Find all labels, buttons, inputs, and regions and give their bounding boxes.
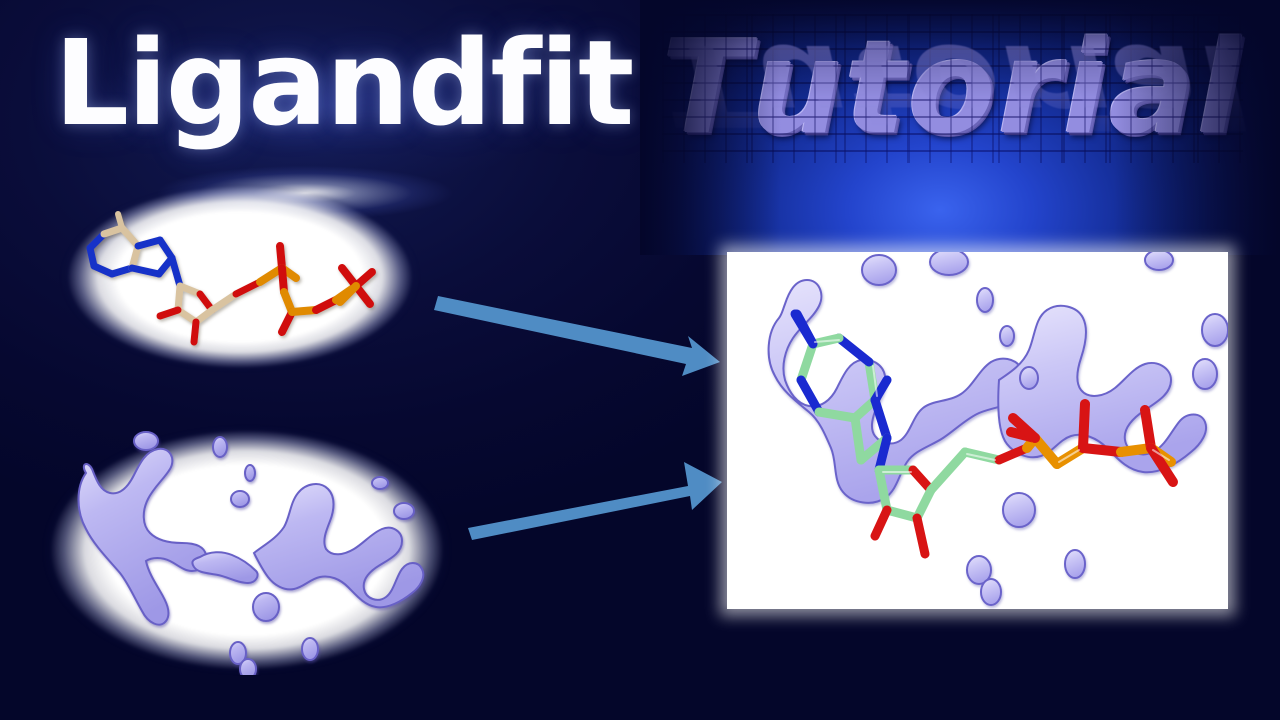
atp-stick-model	[60, 182, 420, 372]
slide-canvas: Ligandfit Tutorial Tutorial	[0, 0, 1280, 720]
density-map-viewport	[42, 425, 452, 675]
banner-vignette	[640, 0, 1280, 255]
fitted-ligand-viewport	[727, 252, 1228, 609]
tutorial-banner: Tutorial Tutorial	[640, 0, 1280, 255]
fitted-ligand-result-panel	[727, 252, 1228, 609]
ligand-structure-ellipse	[60, 182, 420, 372]
page-title: Ligandfit	[54, 22, 632, 146]
electron-density-isosurface	[42, 425, 452, 675]
arrow-density-to-result	[440, 440, 740, 560]
arrow-ligand-to-result	[420, 280, 740, 400]
density-map-ellipse	[42, 425, 452, 675]
fitted-ligand-with-density	[727, 252, 1228, 609]
ligand-structure-viewport	[60, 182, 420, 372]
